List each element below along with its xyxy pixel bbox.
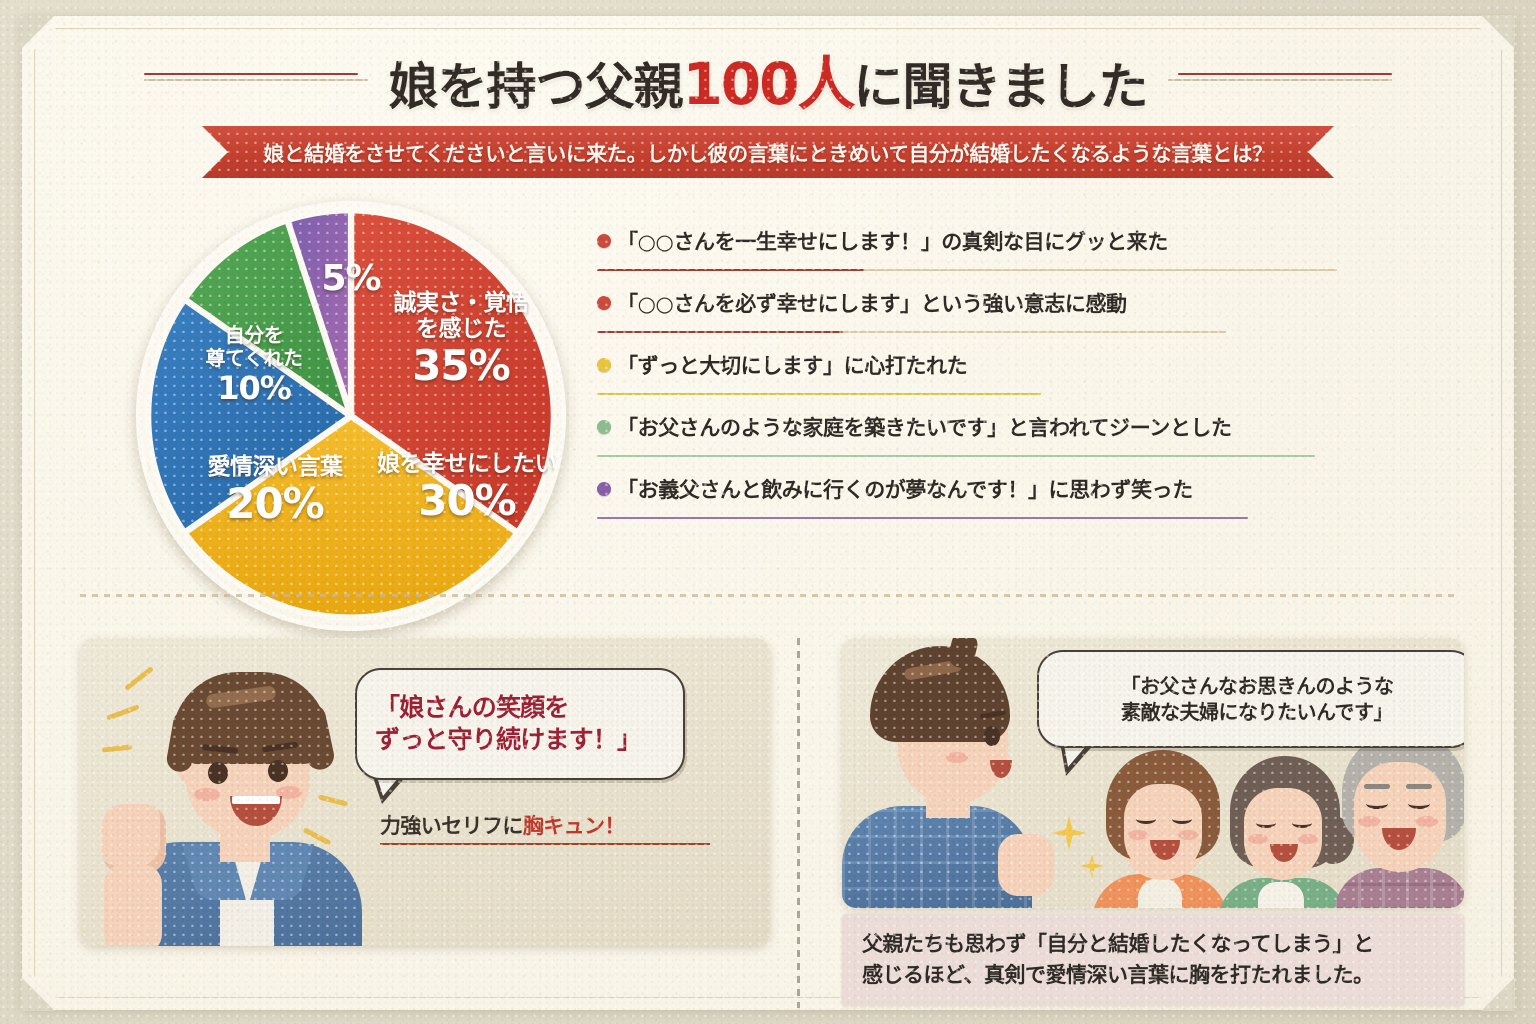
suitor-hair-spike <box>946 638 980 671</box>
suitor-neck <box>926 780 970 818</box>
subtitle-ribbon: 娘と結婚をさせてくださいと言いに来た。しかし彼の言葉にときめいて自分が結婚したく… <box>174 126 1362 178</box>
mother-body <box>1218 878 1348 908</box>
legend-underline-4 <box>597 517 1248 520</box>
character-blush-left <box>194 788 220 801</box>
father-plaid-overlay <box>1334 868 1464 908</box>
page-title-prefix: 娘を持つ父親 <box>388 58 682 116</box>
horizontal-divider <box>80 594 1456 597</box>
father-face <box>1354 762 1446 872</box>
sparkle-star-icon-1 <box>1052 816 1086 850</box>
mother-face <box>1244 788 1322 880</box>
legend-item-3[interactable]: 「お父さんのような家庭を築きたいです」と言われてジーンとした <box>597 407 1337 469</box>
bubble-left-line2: ずっと守り続けます！」 <box>375 724 641 757</box>
vertical-divider <box>797 638 800 1008</box>
ribbon-tail-left <box>174 138 216 192</box>
legend-bullet-icon-0 <box>597 234 611 248</box>
character-hair-tuft-right <box>295 702 336 772</box>
caption-left-highlight: 胸キュン！ <box>523 814 625 838</box>
character-teeth <box>232 796 280 804</box>
character-neck <box>220 816 270 862</box>
character-hair-tuft-left <box>165 708 201 774</box>
caption-right-line2: 感じるほど、真剣で愛情深い言葉に胸を打たれました。 <box>862 960 1444 992</box>
bubble-tail-fill-left <box>375 771 404 796</box>
mother-eye-left <box>1256 818 1276 828</box>
character-torso <box>110 842 362 946</box>
sparkle-icon-4 <box>318 794 348 806</box>
caption-right-line1: 父親たちも思わず「自分と結婚したくなってしまう」と <box>862 929 1444 961</box>
legend-bullet-icon-3 <box>597 420 611 434</box>
ribbon-tail-right <box>1320 138 1362 192</box>
character-forearm <box>104 864 162 946</box>
decorative-frame: 娘を持つ父親100人に聞きました 娘と結婚をさせてくださいと言いに来た。しかし彼… <box>22 16 1514 1010</box>
illustration-left: 「娘さんの笑顔を ずっと守り続けます！」 力強いセリフに胸キュン！ <box>80 638 770 946</box>
corner-cut-bottom-left <box>21 977 55 1011</box>
character-mouth <box>230 796 282 826</box>
legend-underline-1 <box>597 331 1226 334</box>
page-title-highlight: 100人 <box>682 50 853 118</box>
title-block: 娘を持つ父親100人に聞きました <box>22 40 1514 118</box>
daughter-eye-left <box>1136 814 1156 824</box>
legend-bullet-icon-1 <box>597 296 611 310</box>
mother-mouth <box>1270 844 1298 862</box>
suitor-torso <box>842 806 1032 908</box>
character-face <box>186 700 310 840</box>
speech-bubble-left: 「娘さんの笑顔を ずっと守り続けます！」 <box>355 668 685 780</box>
character-undershirt <box>220 852 274 946</box>
character-eye-left <box>208 762 228 784</box>
father-hair <box>1342 730 1464 842</box>
mother-eye-right <box>1292 818 1312 828</box>
caption-left: 力強いセリフに胸キュン！ <box>380 810 710 845</box>
page-title-suffix: に聞きました <box>854 58 1148 116</box>
suitor-blush <box>946 752 968 763</box>
legend-text-4: 「お義父さんと飲みに行くのが夢なんです！」に思わず笑った <box>617 474 1193 504</box>
bubble-right-line1: 「お父さんなお思きんのような <box>1121 673 1394 699</box>
character-brow-left <box>202 744 238 754</box>
father-blush-left <box>1358 816 1380 827</box>
character-collar-right <box>250 844 314 900</box>
title-rule-right <box>1162 73 1392 85</box>
mother-blouse <box>1258 882 1304 908</box>
bubble-tail-outline-left <box>372 774 408 804</box>
caption-left-prefix: 力強いセリフに <box>380 814 523 838</box>
suitor-mouth <box>990 760 1012 778</box>
ribbon-text: 娘と結婚をさせてくださいと言いに来た。しかし彼の言葉にときめいて自分が結婚したく… <box>264 137 1273 167</box>
daughter-body <box>1092 874 1228 908</box>
daughter-blush-left <box>1128 830 1148 840</box>
character-fist <box>102 804 166 874</box>
daughter-hair <box>1106 750 1220 860</box>
pie-chart-svg <box>141 206 561 626</box>
suitor-plaid-overlay <box>842 806 1032 908</box>
daughter-eye-right <box>1172 814 1192 824</box>
legend-text-3: 「お父さんのような家庭を築きたいです」と言われてジーンとした <box>617 412 1232 442</box>
sparkle-icon-1 <box>124 666 154 691</box>
mother-blush-right <box>1298 834 1318 844</box>
father-eye-right <box>1408 798 1430 809</box>
character-ear <box>178 754 198 784</box>
legend-bullet-icon-4 <box>597 482 611 496</box>
legend-text-0: 「○○さんを一生幸せにします！」の真剣な目にグッと来た <box>617 226 1168 256</box>
title-rule-left <box>144 73 374 85</box>
father-eye-left <box>1366 798 1388 809</box>
infographic-canvas: 娘を持つ父親100人に聞きました 娘と結婚をさせてくださいと言いに来た。しかし彼… <box>0 0 1536 1024</box>
panel-right: 「お父さんなお思きんのような 素敵な夫婦になりたいんです」 <box>842 638 1464 908</box>
legend-list: 「○○さんを一生幸せにします！」の真剣な目にグッと来た 「○○さんを必ず幸せにし… <box>597 221 1337 531</box>
daughter-inner-top <box>1138 878 1182 908</box>
suitor-hair <box>870 646 1010 742</box>
sparkle-icon-2 <box>106 704 140 720</box>
mother-hair <box>1230 756 1340 868</box>
father-blush-right <box>1416 816 1438 827</box>
sparkle-star-icon-2 <box>1080 854 1104 878</box>
suitor-face <box>898 678 1008 804</box>
father-brow-right <box>1406 784 1432 789</box>
bubble-tail-outline-right <box>1060 742 1096 776</box>
bubble-left-line1: 「娘さんの笑顔を <box>375 692 569 725</box>
legend-underline-3 <box>597 455 1315 458</box>
sparkle-icon-3 <box>102 744 132 752</box>
daughter-face <box>1118 776 1208 880</box>
suitor-brow <box>980 710 1006 719</box>
character-brow-right <box>262 742 298 753</box>
legend-underline-2 <box>597 393 1041 396</box>
father-mouth <box>1382 828 1416 850</box>
suitor-hair-highlight <box>903 659 962 681</box>
daughter-mouth <box>1150 840 1180 860</box>
daughter-blush-right <box>1178 830 1198 840</box>
panel-left: 「娘さんの笑顔を ずっと守り続けます！」 力強いセリフに胸キュン！ <box>80 638 770 946</box>
pie-chart-area: 誠実さ・覚悟 を感じた 35% 娘を幸せにしたい 30% 愛情深い言葉 20% … <box>122 196 592 636</box>
character-hair-highlight <box>205 685 276 709</box>
father-body <box>1334 868 1464 908</box>
mother-blush-left <box>1248 834 1268 844</box>
legend-item-2[interactable]: 「ずっと大切にします」に心打たれた <box>597 345 1337 407</box>
sparkle-icon-5 <box>303 827 332 845</box>
legend-item-1[interactable]: 「○○さんを必ず幸せにします」という強い意志に感動 <box>597 283 1337 345</box>
legend-bullet-icon-2 <box>597 358 611 372</box>
legend-text-2: 「ずっと大切にします」に心打たれた <box>617 350 967 380</box>
mother-hair-bun <box>1312 816 1354 864</box>
character-blush-right <box>276 786 302 799</box>
illustration-right: 「お父さんなお思きんのような 素敵な夫婦になりたいんです」 <box>842 638 1464 908</box>
legend-underline-0 <box>597 269 1337 272</box>
page-title: 娘を持つ父親100人に聞きました <box>374 37 1161 121</box>
character-eye-right <box>268 760 288 782</box>
bubble-right-line2: 素敵な夫婦になりたいんです」 <box>1121 699 1393 725</box>
character-collar-left <box>182 844 246 900</box>
character-hair <box>172 672 328 764</box>
legend-item-0[interactable]: 「○○さんを一生幸せにします！」の真剣な目にグッと来た <box>597 221 1337 283</box>
suitor-eye <box>984 726 1000 746</box>
ribbon-body: 娘と結婚をさせてくださいと言いに来た。しかし彼の言葉にときめいて自分が結婚したく… <box>202 126 1334 178</box>
suitor-hand <box>998 834 1054 896</box>
bubble-tail-fill-right <box>1063 739 1092 767</box>
speech-bubble-right: 「お父さんなお思きんのような 素敵な夫婦になりたいんです」 <box>1037 650 1464 748</box>
caption-right: 父親たちも思わず「自分と結婚したくなってしまう」と 感じるほど、真剣で愛情深い言… <box>842 914 1464 1006</box>
legend-text-1: 「○○さんを必ず幸せにします」という強い意志に感動 <box>617 288 1127 318</box>
father-brow-left <box>1364 784 1390 789</box>
corner-cut-bottom-right <box>1481 977 1515 1011</box>
pie-chart: 誠実さ・覚悟 を感じた 35% 娘を幸せにしたい 30% 愛情深い言葉 20% … <box>136 201 566 631</box>
legend-item-4[interactable]: 「お義父さんと飲みに行くのが夢なんです！」に思わず笑った <box>597 469 1337 531</box>
daughter-face-front <box>1124 784 1202 876</box>
